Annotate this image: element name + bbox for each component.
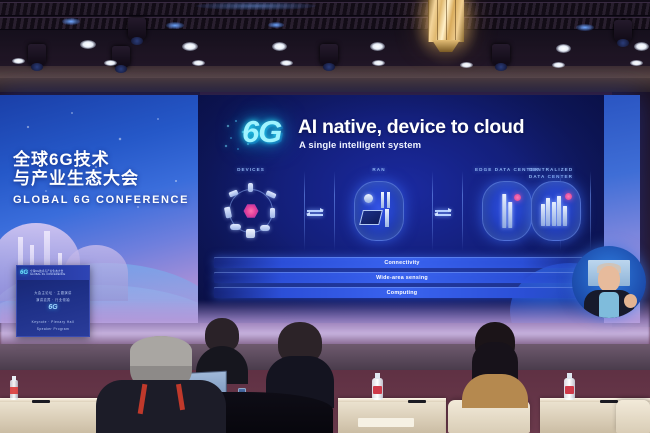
eyeglasses <box>408 400 426 403</box>
downlight-icon <box>280 60 293 66</box>
stage-spotlight-icon <box>492 44 510 66</box>
edge-server-icon <box>502 194 512 228</box>
blue-wash-light-icon <box>62 18 80 25</box>
stage-spotlight-icon <box>128 18 146 40</box>
sign-header-line2: GLOBAL 6G CONFERENCE <box>30 273 65 276</box>
pipeline-arrow-icon <box>435 207 453 219</box>
pipeline-stage-ran: RAN <box>340 167 418 253</box>
pipeline-divider <box>590 171 591 251</box>
speaker-shirt <box>599 292 619 318</box>
capability-bars: Connectivity Wide-area sensing Computing <box>214 257 590 302</box>
radio-unit-icon <box>359 210 383 225</box>
downlight-icon <box>630 60 643 66</box>
six-g-logo-text: 6G <box>242 114 281 150</box>
attendee-3 <box>266 322 334 404</box>
data-center-icon <box>541 196 567 226</box>
water-bottle <box>10 380 18 400</box>
stage-label-ran: RAN <box>340 167 418 174</box>
downlight-icon <box>370 42 385 51</box>
banner-title-en: GLOBAL 6G CONFERENCE <box>13 194 198 206</box>
ceiling-truss-lower <box>0 17 650 30</box>
sign-six-g-badge: 6G <box>20 270 28 276</box>
antenna-mast-icon <box>387 192 390 208</box>
pipeline-divider <box>304 171 305 251</box>
speaker-head <box>598 266 620 292</box>
capability-bar-connectivity: Connectivity <box>214 257 590 268</box>
radio-unit-icon <box>385 209 389 227</box>
pipeline-stage-devices: DEVICES <box>212 167 290 253</box>
attendee-hair <box>130 336 192 366</box>
downlight-icon <box>634 42 649 51</box>
hand-sanitizer <box>564 378 575 400</box>
capability-bar-wide-area-sensing: Wide-area sensing <box>214 272 590 283</box>
papers <box>358 418 414 427</box>
pipeline-arrow-icon <box>307 207 325 219</box>
capability-label: Connectivity <box>214 260 590 266</box>
antenna-mast-icon <box>381 192 384 208</box>
downlight-icon <box>182 42 198 51</box>
downlight-icon <box>272 42 287 51</box>
attendee-4 <box>462 322 528 404</box>
speaker-hand <box>624 294 637 308</box>
sign-header: 6G 全球6G技术与产业生态大会 GLOBAL 6G CONFERENCE <box>17 266 89 280</box>
sign-line-1: 大会主论坛 · 主题演讲 <box>17 290 89 295</box>
device-icon <box>248 183 253 192</box>
stage-label-centralized-data-center: CENTRALIZED DATA CENTER <box>512 167 590 181</box>
conference-scene: 全球6G技术 与产业生态大会 GLOBAL 6G CONFERENCE 6G A… <box>0 0 650 433</box>
device-icon <box>270 208 275 218</box>
device-icon <box>230 224 241 230</box>
led-video-wall: 全球6G技术 与产业生态大会 GLOBAL 6G CONFERENCE 6G A… <box>0 95 640 323</box>
centralized-pod <box>531 181 581 241</box>
attendee-body <box>462 374 528 408</box>
blue-wash-light-icon <box>268 22 284 28</box>
capability-label: Computing <box>214 290 590 296</box>
hand-sanitizer <box>372 378 383 400</box>
ceiling-truss-upper <box>0 2 650 16</box>
ceiling-base <box>0 78 650 92</box>
attendee-2 <box>96 336 226 433</box>
device-icon <box>260 225 270 231</box>
sign-logo: 6G <box>48 304 57 311</box>
chair-far-right <box>616 400 650 433</box>
sign-footer-1: Keynote · Plenary Hall <box>17 320 89 324</box>
status-badge <box>565 193 572 200</box>
banner-title-line1: 全球6G技术 <box>13 150 110 169</box>
pipeline-divider <box>432 171 433 251</box>
architecture-pipeline: DEVICES <box>212 167 592 253</box>
blue-wash-light-icon <box>196 2 316 10</box>
device-icon <box>246 229 255 238</box>
downlight-icon <box>80 40 96 49</box>
downlight-icon <box>104 60 117 66</box>
pipeline-stage-centralized: CENTRALIZED DATA CENTER <box>512 167 590 253</box>
eyeglasses <box>32 400 50 403</box>
ran-pod <box>354 181 404 241</box>
pipeline-divider <box>462 171 463 251</box>
capability-bar-computing: Computing <box>214 287 590 298</box>
attendee-body <box>96 380 226 433</box>
chandelier-icon <box>424 0 468 56</box>
downlight-icon <box>12 58 25 64</box>
sign-header-text: 全球6G技术与产业生态大会 GLOBAL 6G CONFERENCE <box>30 270 65 276</box>
blue-wash-light-icon <box>576 24 594 31</box>
downlight-icon <box>192 60 205 66</box>
blue-wash-light-icon <box>166 22 184 29</box>
stage-label-devices: DEVICES <box>212 167 290 174</box>
downlight-icon <box>372 60 385 66</box>
eyeglasses <box>600 400 618 403</box>
banner-title-cn: 全球6G技术 与产业生态大会 <box>13 150 193 189</box>
pipeline-divider <box>334 171 335 251</box>
banner-title-line2: 与产业生态大会 <box>13 169 193 188</box>
stage-spotlight-icon <box>28 44 46 66</box>
desk-center <box>338 398 446 433</box>
speaker-video-inset <box>572 246 646 318</box>
slide-title: AI native, device to cloud <box>298 116 524 139</box>
podium-sign: 6G 全球6G技术与产业生态大会 GLOBAL 6G CONFERENCE 大会… <box>16 265 90 337</box>
downlight-icon <box>552 62 565 68</box>
sign-footer-2: Speaker Program <box>17 327 89 331</box>
stage-spotlight-icon <box>614 20 632 42</box>
downlight-icon <box>556 44 571 53</box>
antenna-dish-icon <box>364 194 373 203</box>
six-g-logo-icon: 6G <box>226 112 308 160</box>
presentation-slide: 6G AI native, device to cloud A single i… <box>198 95 604 323</box>
capability-label: Wide-area sensing <box>214 275 590 281</box>
sign-line-2: 演讲嘉宾 · 行业领袖 <box>17 297 89 302</box>
stage-spotlight-icon <box>320 44 338 66</box>
devices-ring-icon <box>222 181 280 241</box>
ceiling <box>0 0 650 92</box>
slide-subtitle: A single intelligent system <box>299 140 421 151</box>
